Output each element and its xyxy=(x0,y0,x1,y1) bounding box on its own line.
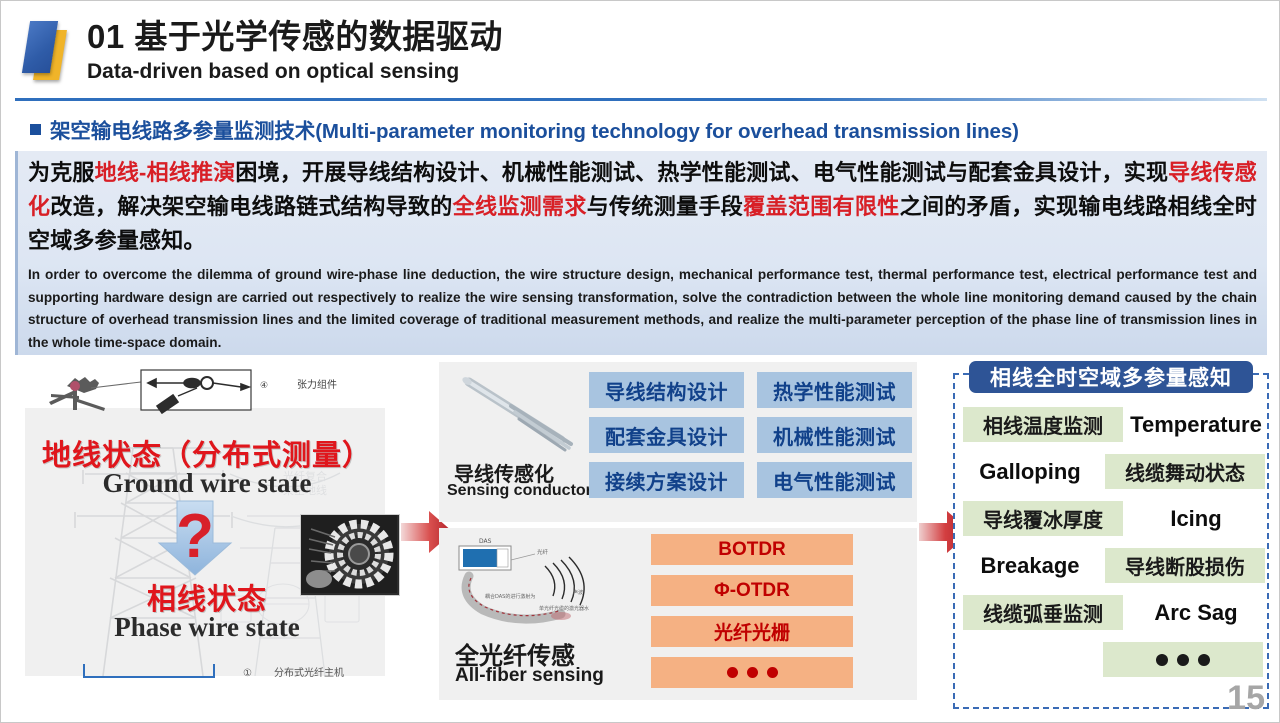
fiber-tech-box[interactable] xyxy=(651,657,853,688)
fiber-tech-box[interactable]: 光纤光栅 xyxy=(651,616,853,647)
svg-text:耦合DAS的进行激射为: 耦合DAS的进行激射为 xyxy=(485,593,535,600)
middle-panel: 导线传感化 Sensing conductor 导线结构设计热学性能测试配套金具… xyxy=(439,362,917,700)
parallelogram-logo-icon xyxy=(23,19,77,81)
paragraph-en: In order to overcome the dilemma of grou… xyxy=(28,264,1257,354)
all-fiber-sensing-label-en: All-fiber sensing xyxy=(455,665,604,687)
bottom-caption-cn: 分布式光纤主机 xyxy=(274,668,344,679)
conductor-task-box[interactable]: 导线结构设计 xyxy=(589,372,744,408)
conductor-task-grid: 导线结构设计热学性能测试配套金具设计机械性能测试接续方案设计电气性能测试 xyxy=(589,372,912,498)
conductor-task-box[interactable]: 机械性能测试 xyxy=(757,417,912,453)
tension-assembly-diagram: ④ 张力组件 xyxy=(45,366,395,414)
sensing-conductor-image xyxy=(453,370,583,454)
slide-root: 01 基于光学传感的数据驱动 Data-driven based on opti… xyxy=(0,0,1280,723)
ellipsis-dots-icon xyxy=(727,667,778,678)
page-number: 15 xyxy=(1227,679,1265,718)
section-heading: 架空输电线路多参量监测技术(Multi-parameter monitoring… xyxy=(15,111,1267,147)
square-bullet-icon xyxy=(30,124,41,135)
paragraph-text: 与传统测量手段 xyxy=(587,194,743,219)
sensing-conductor-label-en: Sensing conductor xyxy=(447,482,592,500)
parameter-label-en: Arc Sag xyxy=(1123,595,1269,630)
header-divider xyxy=(15,98,1267,101)
paragraph-highlight: 地线-相线推演 xyxy=(95,160,236,185)
slide-header: 01 基于光学传感的数据驱动 Data-driven based on opti… xyxy=(1,1,1280,99)
parameter-list: 相线温度监测TemperatureGalloping线缆舞动状态导线覆冰厚度Ic… xyxy=(955,401,1269,683)
parameter-row: Breakage导线断股损伤 xyxy=(955,542,1269,589)
fiber-sensing-diagram: DAS 光纤 耦合DAS的进行激射为 单光纤光缆的激光器水 xyxy=(449,532,615,632)
description-block: 为克服地线-相线推演困境，开展导线结构设计、机械性能测试、热学性能测试、电气性能… xyxy=(15,151,1267,355)
svg-text:单光纤光缆的激光器水: 单光纤光缆的激光器水 xyxy=(539,605,589,612)
fiber-tech-box[interactable]: BOTDR xyxy=(651,534,853,565)
svg-text:光纤: 光纤 xyxy=(537,548,549,556)
ground-wire-state-en: Ground wire state xyxy=(27,468,387,499)
cable-cross-section-photo xyxy=(300,514,400,596)
parameter-label-cn[interactable]: 导线断股损伤 xyxy=(1105,548,1265,583)
all-fiber-sensing-group: DAS 光纤 耦合DAS的进行激射为 单光纤光缆的激光器水 xyxy=(439,528,917,700)
paragraph-text: 改造，解决架空输电线路链式结构导致的 xyxy=(50,194,452,219)
conductor-task-box[interactable]: 接续方案设计 xyxy=(589,462,744,498)
parameter-label-cn[interactable]: 导线覆冰厚度 xyxy=(963,501,1123,536)
down-arrow-question-icon: ? xyxy=(155,499,241,577)
parameter-label-cn[interactable] xyxy=(1103,642,1263,677)
fiber-img-caption: DAS xyxy=(479,538,492,545)
parameter-row: 相线温度监测Temperature xyxy=(955,401,1269,448)
parameter-label-cn[interactable]: 相线温度监测 xyxy=(963,407,1123,442)
diagram-area: 光纤复合 架空地线 xyxy=(1,359,1280,723)
parameter-row-ellipsis xyxy=(955,636,1269,683)
parameter-row: 线缆弧垂监测Arc Sag xyxy=(955,589,1269,636)
paragraph-highlight: 覆盖范围有限性 xyxy=(743,194,899,219)
svg-text:声波: 声波 xyxy=(573,589,583,596)
section-heading-text: 架空输电线路多参量监测技术(Multi-parameter monitoring… xyxy=(50,114,1019,144)
parameter-label-en: Icing xyxy=(1123,501,1269,536)
parameter-label-en: Galloping xyxy=(955,454,1105,489)
paragraph-text: 困境，开展导线结构设计、机械性能测试、热学性能测试、电气性能测试与配套金具设计，… xyxy=(235,160,1168,185)
bottom-caption: ①分布式光纤主机 xyxy=(243,664,344,679)
conductor-task-box[interactable]: 热学性能测试 xyxy=(757,372,912,408)
diagram-caption-cn: 张力组件 xyxy=(297,378,337,391)
ellipsis-dots-icon xyxy=(1156,654,1210,666)
header-title-group: 01 基于光学传感的数据驱动 Data-driven based on opti… xyxy=(87,17,503,85)
paragraph-text: 为克服 xyxy=(28,160,95,185)
parameter-label-en: Temperature xyxy=(1123,407,1269,442)
parameter-label-en: Breakage xyxy=(955,548,1105,583)
parameter-label-cn[interactable]: 线缆舞动状态 xyxy=(1105,454,1265,489)
paragraph-cn: 为克服地线-相线推演困境，开展导线结构设计、机械性能测试、热学性能测试、电气性能… xyxy=(28,156,1257,258)
conductor-task-box[interactable]: 配套金具设计 xyxy=(589,417,744,453)
parameter-label-cn[interactable]: 线缆弧垂监测 xyxy=(963,595,1123,630)
paragraph-highlight: 全线监测需求 xyxy=(453,194,587,219)
page-title-cn: 01 基于光学传感的数据驱动 xyxy=(87,17,503,57)
phase-wire-state-en: Phase wire state xyxy=(27,612,387,643)
bottom-marker: ① xyxy=(243,668,252,679)
parameter-row: 导线覆冰厚度Icing xyxy=(955,495,1269,542)
conductor-task-box[interactable]: 电气性能测试 xyxy=(757,462,912,498)
parameter-row: Galloping线缆舞动状态 xyxy=(955,448,1269,495)
diagram-marker: ④ xyxy=(260,381,268,391)
blue-bracket-marker xyxy=(83,664,215,678)
left-panel: 光纤复合 架空地线 xyxy=(15,364,397,694)
question-mark-glyph: ? xyxy=(176,502,214,571)
page-title-en: Data-driven based on optical sensing xyxy=(87,59,503,85)
right-panel-banner: 相线全时空域多参量感知 xyxy=(969,361,1253,393)
fiber-tech-list: BOTDRΦ-OTDR光纤光栅 xyxy=(651,534,853,688)
fiber-tech-box[interactable]: Φ-OTDR xyxy=(651,575,853,606)
sensing-conductor-group: 导线传感化 Sensing conductor 导线结构设计热学性能测试配套金具… xyxy=(439,362,917,522)
